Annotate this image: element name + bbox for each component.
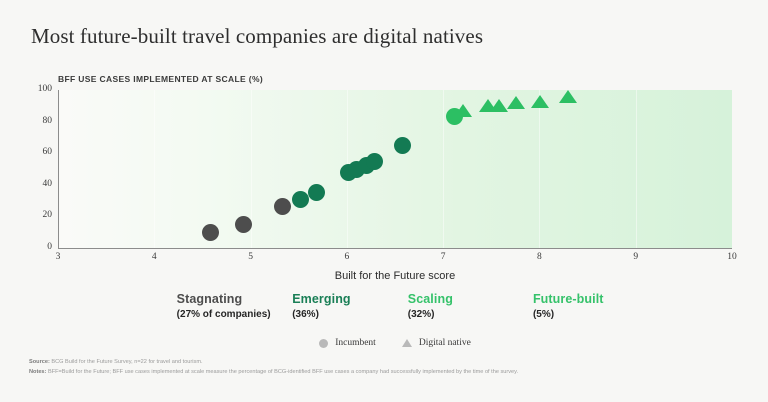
legend-label: Incumbent: [335, 338, 376, 348]
x-tick-label: 6: [332, 252, 362, 262]
y-tick-label: 40: [12, 179, 52, 189]
footnote-source-label: Source:: [29, 359, 50, 365]
footnote-notes-text: BFF=Build for the Future; BFF use cases …: [46, 369, 518, 375]
y-tick-label: 20: [12, 210, 52, 220]
category-name: Emerging: [292, 292, 422, 306]
legend-item[interactable]: Incumbent: [319, 338, 376, 348]
x-axis-line: [58, 248, 732, 249]
category-block: Emerging(36%): [292, 292, 422, 320]
footnotes: Source: BCG Build for the Future Survey,…: [29, 357, 739, 378]
y-tick-label: 80: [12, 116, 52, 126]
category-name: Future-built: [533, 292, 663, 306]
data-point-circle: [235, 216, 252, 233]
chart-legend: IncumbentDigital native: [58, 338, 732, 348]
legend-circle-icon: [319, 339, 328, 348]
category-block: Future-built(5%): [533, 292, 663, 320]
footnote-source: Source: BCG Build for the Future Survey,…: [29, 357, 739, 367]
category-name: Scaling: [408, 292, 538, 306]
y-axis-title: BFF USE CASES IMPLEMENTED AT SCALE (%): [58, 74, 263, 84]
data-point-triangle: [559, 90, 577, 103]
legend-triangle-icon: [402, 339, 412, 347]
x-tick-label: 9: [621, 252, 651, 262]
y-tick-label: 100: [12, 84, 52, 94]
data-point-triangle: [531, 95, 549, 108]
plot-gridband: [443, 90, 444, 248]
data-point-circle: [308, 184, 325, 201]
x-tick-label: 5: [236, 252, 266, 262]
category-block: Stagnating(27% of companies): [177, 292, 307, 320]
category-percent: (27% of companies): [177, 309, 307, 320]
x-tick-label: 7: [428, 252, 458, 262]
category-block: Scaling(32%): [408, 292, 538, 320]
data-point-circle: [394, 137, 411, 154]
category-name: Stagnating: [177, 292, 307, 306]
data-point-triangle: [507, 96, 525, 109]
category-percent: (5%): [533, 309, 663, 320]
data-point-circle: [202, 224, 219, 241]
data-point-circle: [366, 153, 383, 170]
y-tick-label: 0: [12, 242, 52, 252]
legend-label: Digital native: [419, 338, 471, 348]
data-point-triangle: [454, 104, 472, 117]
x-tick-label: 8: [524, 252, 554, 262]
footnote-notes-label: Notes:: [29, 369, 46, 375]
x-tick-label: 10: [717, 252, 747, 262]
footnote-notes: Notes: BFF=Build for the Future; BFF use…: [29, 367, 739, 377]
plot-gridband: [154, 90, 155, 248]
x-tick-label: 3: [43, 252, 73, 262]
plot-area: [58, 90, 732, 248]
category-percent: (32%): [408, 309, 538, 320]
y-tick-label: 60: [12, 147, 52, 157]
category-percent: (36%): [292, 309, 422, 320]
footnote-source-text: BCG Build for the Future Survey, n=22 fo…: [50, 359, 203, 365]
x-tick-label: 4: [139, 252, 169, 262]
data-point-circle: [292, 191, 309, 208]
y-axis-line: [58, 90, 59, 248]
x-axis-title: Built for the Future score: [58, 270, 732, 282]
plot-gridband: [539, 90, 540, 248]
data-point-triangle: [490, 99, 508, 112]
legend-item[interactable]: Digital native: [402, 338, 471, 348]
scatter-chart: BFF USE CASES IMPLEMENTED AT SCALE (%) 0…: [0, 0, 768, 402]
plot-gridband: [636, 90, 637, 248]
